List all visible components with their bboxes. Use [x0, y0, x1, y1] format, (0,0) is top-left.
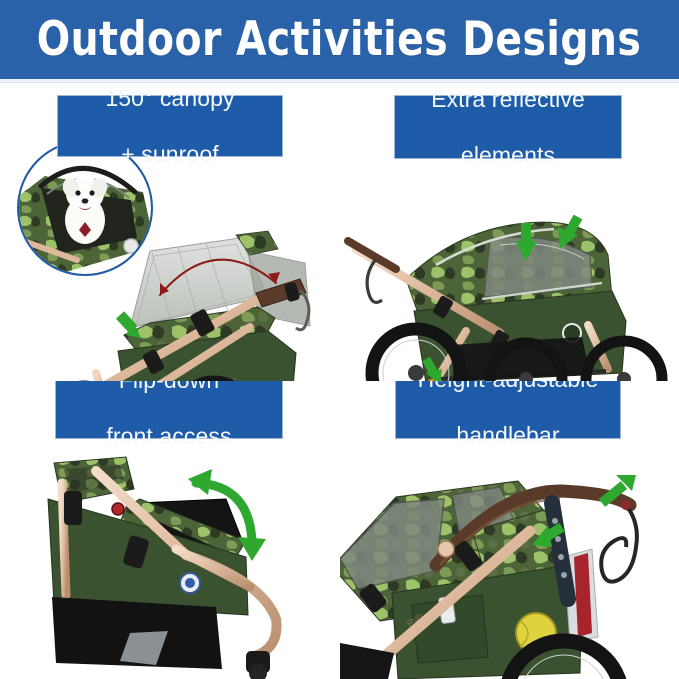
panel-2-caption: Extra reflectiveelements: [394, 95, 622, 159]
product-feature-infographic: Outdoor Activities Designs: [0, 0, 679, 679]
wrist-strap: [601, 500, 637, 582]
page-title: Outdoor Activities Designs: [37, 12, 642, 67]
panel-height-adjustable-handlebar: RUN Run: [340, 381, 679, 679]
panel-2-caption-text: Extra reflectiveelements: [419, 85, 597, 169]
panel-3-caption-text: Flip-downfront access: [94, 381, 243, 450]
panel-4-caption-text: Height-adjustablehandlebar: [406, 381, 611, 449]
panel-flip-down-front-access: Flip-downfront access: [0, 381, 339, 679]
feature-panel-grid: RUN: [0, 83, 679, 679]
panel-1-caption-text: 150° canopy+ sunroof: [93, 84, 246, 168]
panel-reflective-elements: RUN: [340, 83, 679, 381]
page-header: Outdoor Activities Designs: [0, 0, 679, 79]
release-button: [112, 503, 124, 515]
panel-4-caption: Height-adjustablehandlebar: [395, 381, 621, 439]
panel-3-caption: Flip-downfront access: [55, 381, 283, 439]
front-wheel-hub: [246, 651, 270, 679]
panel-canopy-sunroof: RUN: [0, 83, 339, 381]
panel-1-caption: 150° canopy+ sunroof: [57, 95, 283, 157]
